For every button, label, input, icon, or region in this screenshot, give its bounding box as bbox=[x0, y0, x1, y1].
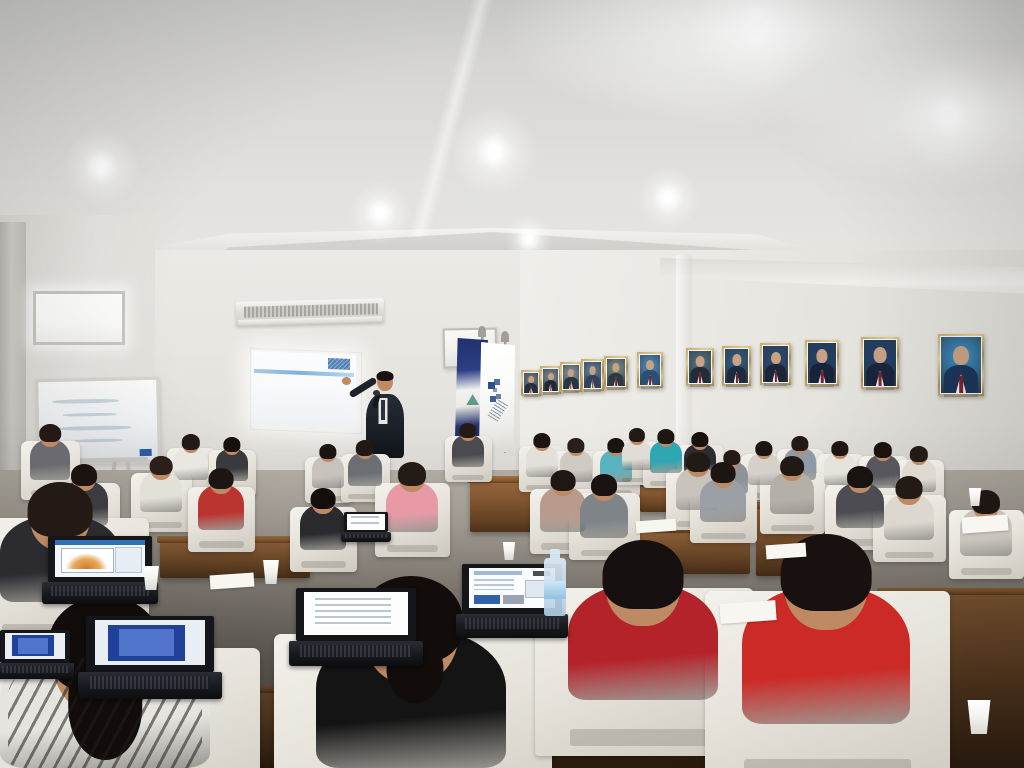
p-b3-hair bbox=[319, 444, 336, 459]
portrait-2-image bbox=[543, 369, 558, 391]
flag-finial-national bbox=[478, 326, 486, 337]
portrait-11-nameplate bbox=[866, 387, 893, 390]
water-bottle-1-neck bbox=[550, 549, 560, 559]
p-m4-hair bbox=[209, 468, 234, 489]
portrait-10-head bbox=[816, 349, 827, 363]
laptop-3-doc-lines bbox=[315, 598, 391, 626]
p-b16-hair bbox=[874, 442, 892, 458]
portrait-5-image bbox=[607, 359, 625, 386]
laptop-5-screen bbox=[347, 514, 385, 530]
p-f4 bbox=[742, 534, 910, 724]
laptop-2-screen bbox=[95, 620, 205, 665]
p-m13 bbox=[884, 476, 934, 540]
portrait-2-tie bbox=[550, 384, 551, 391]
portrait-10-image bbox=[808, 343, 836, 383]
portrait-6-image bbox=[640, 355, 660, 385]
downlight-3 bbox=[450, 108, 538, 196]
portrait-9-head bbox=[771, 352, 781, 364]
portrait-8-tie bbox=[735, 373, 737, 383]
portrait-1-mat bbox=[523, 372, 539, 394]
p-m10 bbox=[700, 462, 746, 522]
paper-2 bbox=[719, 600, 776, 624]
laptop-1-titlebar bbox=[55, 540, 144, 545]
portrait-1 bbox=[521, 370, 541, 396]
p-m3 bbox=[140, 456, 182, 512]
p-m1-hair bbox=[39, 424, 61, 442]
portrait-3-nameplate bbox=[563, 390, 579, 393]
p-m4 bbox=[198, 468, 244, 530]
p-m11-hair bbox=[780, 456, 804, 476]
portrait-11-mat bbox=[863, 339, 897, 387]
p-f3 bbox=[568, 540, 718, 700]
window bbox=[33, 291, 125, 345]
portrait-8-mat bbox=[724, 348, 749, 384]
p-b7-hair bbox=[567, 438, 584, 453]
p-m8 bbox=[580, 474, 628, 538]
p-b17-hair bbox=[910, 446, 928, 462]
ac-louvers bbox=[244, 303, 378, 318]
portrait-7-nameplate bbox=[690, 384, 710, 387]
laptop-2-base bbox=[78, 672, 221, 699]
portrait-11-tie bbox=[879, 372, 882, 386]
downlight-2 bbox=[896, 63, 1002, 169]
portrait-6-mat bbox=[639, 354, 661, 386]
portrait-5-tie bbox=[615, 378, 617, 386]
laptop-5-base bbox=[341, 532, 390, 542]
portrait-12-image bbox=[941, 337, 981, 393]
downlight-8-core bbox=[96, 160, 107, 174]
laptop-2-lid bbox=[86, 616, 214, 672]
laptop-4-slide-box1 bbox=[474, 595, 500, 604]
laptop-1-screen bbox=[55, 540, 144, 577]
downlight-4 bbox=[349, 182, 411, 244]
p-b11-hair bbox=[691, 432, 708, 447]
water-bottle-1-label bbox=[544, 581, 566, 598]
portrait-7-mat bbox=[688, 350, 712, 384]
p-b4-hair bbox=[356, 440, 374, 456]
p-b9 bbox=[622, 428, 652, 470]
p-b4 bbox=[348, 440, 382, 486]
portrait-8-nameplate bbox=[726, 384, 747, 387]
portrait-10-mat bbox=[807, 342, 837, 384]
ceiling-seam bbox=[300, 0, 600, 240]
conference-room-photo bbox=[0, 0, 1024, 768]
portrait-6-tie bbox=[649, 376, 651, 385]
p-m10-hair bbox=[711, 462, 736, 483]
p-m3-hair bbox=[150, 456, 173, 475]
downlight-2-core bbox=[942, 106, 957, 126]
portrait-4-mat bbox=[583, 361, 602, 389]
institutional-flag-wordmark bbox=[488, 398, 509, 421]
p-b2-hair bbox=[223, 437, 240, 452]
portrait-7 bbox=[686, 348, 714, 386]
portrait-6-nameplate bbox=[641, 386, 660, 389]
projection-screen bbox=[252, 351, 356, 429]
portrait-9-image bbox=[763, 346, 788, 382]
laptop-4-slide-text bbox=[474, 579, 514, 590]
portrait-4 bbox=[581, 359, 604, 391]
portrait-11-head bbox=[874, 347, 887, 363]
portrait-12-head bbox=[953, 346, 969, 365]
laptop-5-lid bbox=[344, 512, 388, 532]
portrait-1-head bbox=[528, 376, 534, 383]
laptop-1-lid bbox=[48, 536, 152, 582]
laptop-1-sidepanel bbox=[115, 547, 142, 573]
laptop-6-base bbox=[0, 663, 74, 679]
laptop-3-screen bbox=[304, 592, 407, 635]
portrait-3-image bbox=[563, 365, 579, 389]
portrait-9 bbox=[760, 343, 791, 385]
presenter-hand bbox=[342, 377, 351, 385]
portrait-7-image bbox=[689, 351, 711, 383]
portrait-10-tie bbox=[821, 371, 824, 383]
p-m6 bbox=[386, 462, 438, 532]
portrait-1-tie bbox=[530, 387, 531, 393]
p-m7-hair bbox=[551, 470, 576, 491]
portrait-4-tie bbox=[592, 380, 594, 388]
portrait-7-head bbox=[696, 356, 705, 367]
portrait-12-mat bbox=[940, 336, 982, 394]
laptop-3-base bbox=[289, 641, 423, 666]
p-b6-hair bbox=[533, 433, 550, 448]
portrait-2-mat bbox=[542, 368, 559, 392]
p-m6-hair bbox=[398, 462, 426, 486]
p-f3-hair bbox=[603, 540, 684, 609]
portrait-10 bbox=[805, 340, 839, 386]
laptop-1-base bbox=[42, 582, 158, 604]
portrait-8-image bbox=[725, 349, 748, 383]
paper-4 bbox=[766, 543, 807, 560]
downlight-5 bbox=[637, 167, 699, 229]
portrait-6-head bbox=[646, 360, 654, 370]
portrait-11-image bbox=[864, 340, 896, 386]
water-bottle-1 bbox=[544, 558, 566, 616]
laptop-6-lid bbox=[0, 630, 70, 663]
portrait-2 bbox=[540, 366, 561, 394]
portrait-8 bbox=[722, 346, 751, 386]
laptop-3-lid bbox=[296, 588, 416, 641]
laptop-5-doc-lines bbox=[351, 516, 379, 527]
p-b9-hair bbox=[629, 428, 645, 442]
presenter-hair bbox=[377, 371, 394, 381]
p-b13-hair bbox=[755, 441, 772, 456]
portrait-4-nameplate bbox=[584, 389, 601, 392]
p-b14-hair bbox=[791, 436, 808, 451]
portrait-8-head bbox=[732, 354, 741, 366]
portrait-12 bbox=[938, 334, 984, 396]
portrait-5-nameplate bbox=[607, 387, 624, 390]
p-m8-hair bbox=[591, 474, 617, 496]
portrait-12-tie bbox=[959, 376, 963, 393]
portrait-7-tie bbox=[699, 373, 701, 383]
downlight-8 bbox=[64, 130, 139, 205]
presenter-tie bbox=[381, 400, 385, 420]
portrait-1-nameplate bbox=[524, 394, 538, 397]
p-m5 bbox=[300, 488, 346, 550]
downlight-6-core bbox=[526, 234, 533, 243]
portrait-3 bbox=[560, 362, 582, 392]
portrait-9-tie bbox=[774, 371, 776, 382]
portrait-2-nameplate bbox=[543, 392, 558, 395]
portrait-6 bbox=[637, 352, 663, 388]
p-b3 bbox=[312, 444, 344, 488]
air-conditioner-unit bbox=[236, 298, 385, 326]
p-b1-hair bbox=[182, 434, 200, 450]
p-b15-hair bbox=[831, 441, 848, 456]
portrait-11 bbox=[861, 337, 899, 389]
laptop-4-slide-head bbox=[474, 571, 522, 575]
slide-logo-icon bbox=[328, 358, 350, 370]
portrait-12-nameplate bbox=[944, 394, 977, 397]
portrait-1-image bbox=[524, 373, 538, 393]
laptop-4-base bbox=[456, 614, 568, 638]
portrait-5 bbox=[604, 356, 628, 389]
portrait-10-nameplate bbox=[810, 384, 834, 387]
p-b10-hair bbox=[657, 429, 674, 444]
slide-accent-band bbox=[254, 369, 354, 377]
p-m12-hair bbox=[847, 466, 873, 488]
p-f5-hair bbox=[28, 482, 93, 537]
laptop-1-chart-curve bbox=[64, 552, 109, 569]
p-m12 bbox=[836, 466, 884, 528]
p-m13-hair bbox=[896, 476, 923, 499]
portrait-5-mat bbox=[606, 358, 626, 387]
portrait-3-tie bbox=[570, 382, 571, 389]
portrait-4-head bbox=[589, 366, 596, 375]
portrait-3-mat bbox=[562, 364, 580, 390]
laptop-4-slide-box2 bbox=[503, 595, 524, 604]
portrait-4-image bbox=[584, 362, 601, 388]
paper-5 bbox=[961, 514, 1008, 533]
p-m11 bbox=[770, 456, 814, 514]
laptop-2-doc-inner bbox=[119, 629, 174, 656]
microphone-head-icon bbox=[373, 390, 380, 396]
laptop-6-screen bbox=[5, 633, 65, 659]
national-flag-emblem-icon bbox=[466, 394, 479, 405]
laptop-6-doc-inner bbox=[18, 638, 48, 654]
laptop-4-screen bbox=[469, 568, 555, 608]
portrait-9-mat bbox=[762, 345, 789, 383]
flag-finial-institutional bbox=[501, 331, 509, 342]
p-b5-hair bbox=[459, 423, 476, 438]
p-m5-hair bbox=[311, 488, 336, 509]
p-b5 bbox=[452, 423, 484, 467]
portrait-9-nameplate bbox=[764, 383, 786, 386]
downlight-1-core bbox=[749, 15, 768, 40]
